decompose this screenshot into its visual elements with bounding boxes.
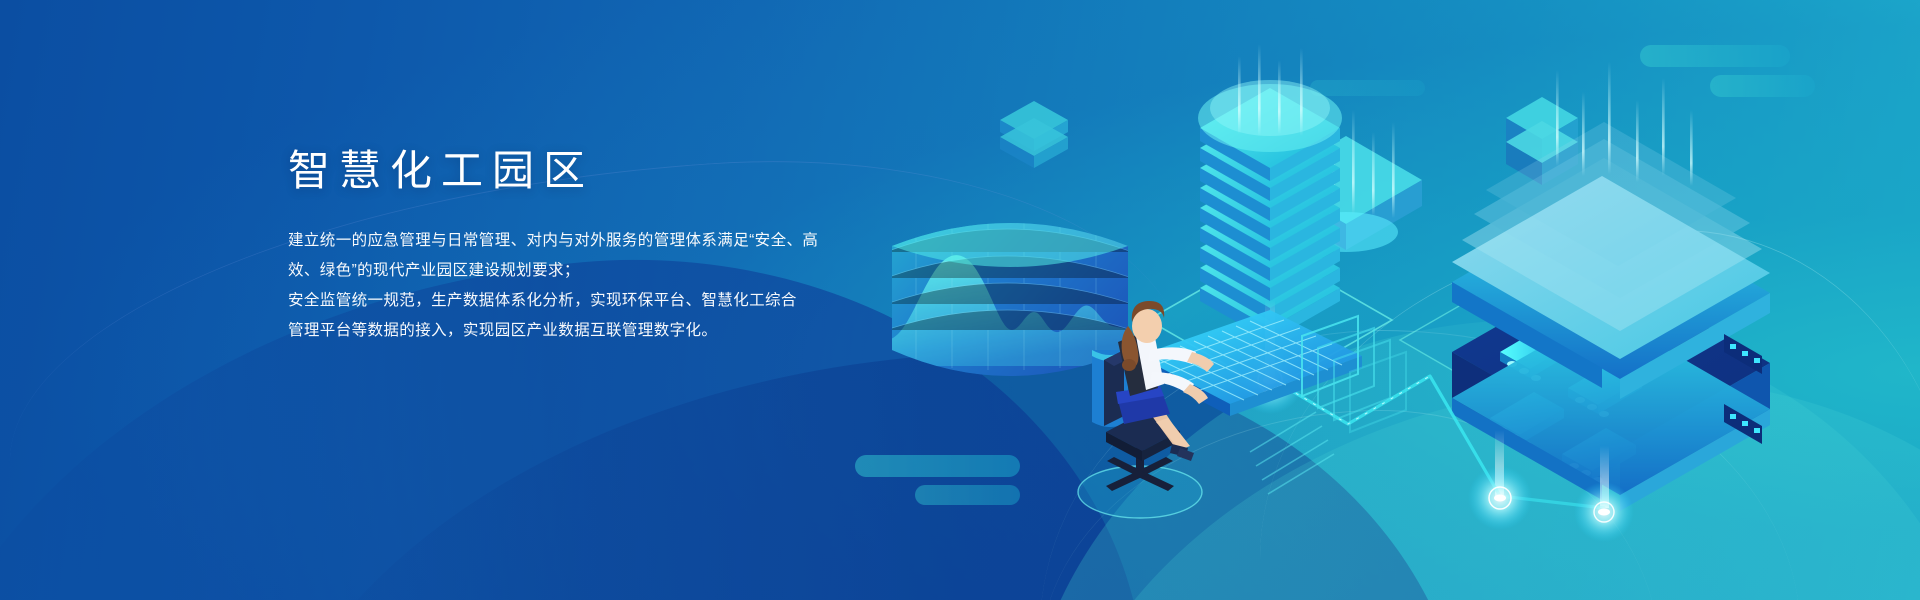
description-line-4: 管理平台等数据的接入，实现园区产业数据互联管理数字化。 xyxy=(288,316,908,346)
description-line-2: 效、绿色”的现代产业园区建设规划要求； xyxy=(288,256,908,286)
glow-node-3 xyxy=(1574,482,1634,542)
banner-description: 建立统一的应急管理与日常管理、对内与对外服务的管理体系满足“安全、高 效、绿色”… xyxy=(288,226,908,346)
server-rack-cabinet xyxy=(1400,62,1770,511)
diagonal-lines-decor xyxy=(1250,412,1334,494)
page-title: 智慧化工园区 xyxy=(288,146,908,196)
hero-banner: 智慧化工园区 建立统一的应急管理与日常管理、对内与对外服务的管理体系满足“安全、… xyxy=(0,0,1920,600)
floating-cube-upper xyxy=(1000,101,1068,168)
data-cylinder-chart xyxy=(886,206,1132,427)
description-line-3: 安全监管统一规范，生产数据体系化分析，实现环保平台、智慧化工综合 xyxy=(288,286,908,316)
description-line-1: 建立统一的应急管理与日常管理、对内与对外服务的管理体系满足“安全、高 xyxy=(288,226,908,256)
banner-content: 智慧化工园区 建立统一的应急管理与日常管理、对内与对外服务的管理体系满足“安全、… xyxy=(288,146,908,346)
glow-node-2 xyxy=(1468,466,1532,530)
